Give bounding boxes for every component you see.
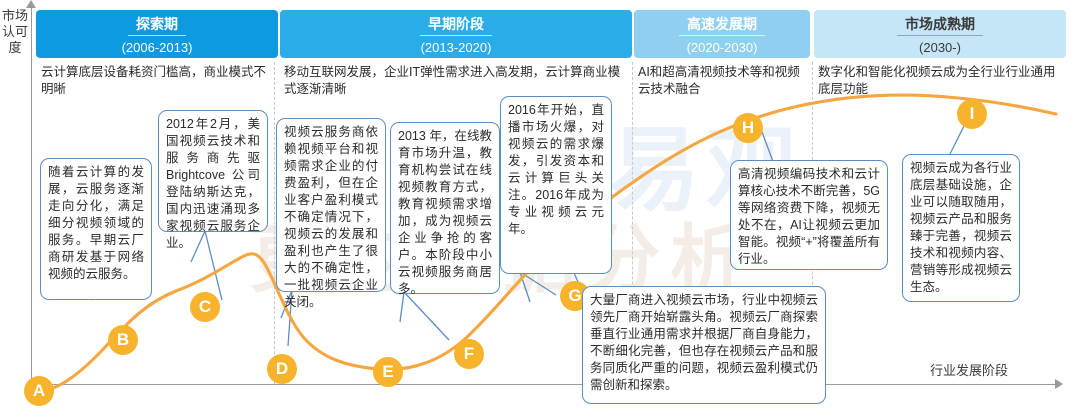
callout-d[interactable]: 视频云服务商依赖视频平台和视频需求企业的付费盈利，但在企业客户盈利模式不确定情况… [276, 118, 386, 292]
marker-e[interactable]: E [373, 357, 403, 387]
callout-b[interactable]: 随着云计算的发展，云服务逐渐走向分化，满足细分视频领域的服务。早期云厂商研发基于… [40, 158, 152, 300]
marker-c[interactable]: C [190, 292, 220, 322]
callout-g-top[interactable]: 2016年开始，直播市场火爆，对视频云的需求爆发，引发资本和云计算巨头关注。20… [500, 96, 612, 274]
marker-a[interactable]: A [24, 376, 54, 406]
marker-f[interactable]: F [454, 339, 484, 369]
marker-i[interactable]: I [957, 99, 987, 129]
callout-h[interactable]: 高清视频编码技术和云计算核心技术不断完善，5G等网络资费下降，视频无处不在，AI… [730, 160, 888, 270]
callout-i[interactable]: 视频云成为各行业底层基础设施，企业可以随取随用，视频云产品和服务臻于完善，视频云… [902, 154, 1020, 302]
callout-f[interactable]: 2013 年，在线教育市场升温，教育机构尝试在线视频教育方式，教育视频需求增加，… [390, 122, 500, 294]
hype-curve-chart: 易观 更的数据分析 市场认可度 行业发展阶段 探索期 (2006-2013) 早… [0, 0, 1080, 416]
marker-b[interactable]: B [108, 325, 138, 355]
callout-g-bottom[interactable]: 大量厂商进入视频云市场，行业中视频云领先厂商开始崭露头角。视频云厂商探索垂直行业… [582, 286, 826, 404]
marker-d[interactable]: D [267, 354, 297, 384]
callout-c[interactable]: 2012年2月，美国视频云技术和服务商先驱 Brightcove 公司登陆纳斯达… [158, 110, 268, 232]
marker-h[interactable]: H [733, 113, 763, 143]
